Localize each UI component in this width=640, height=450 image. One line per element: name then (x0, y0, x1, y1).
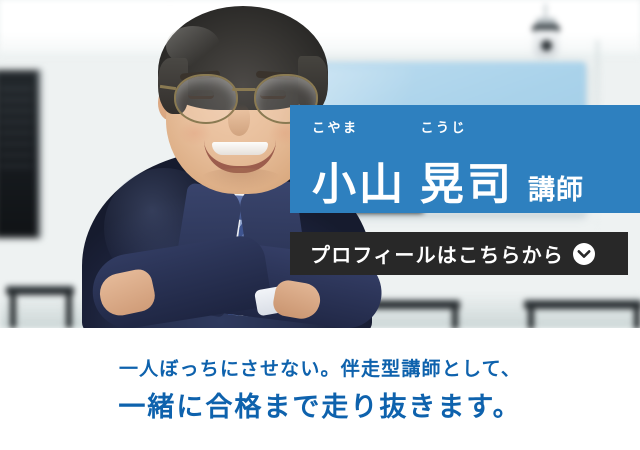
instructor-name-banner: こやま こうじ 小山 晃司 講師 (290, 105, 640, 213)
desk-leg (452, 307, 458, 328)
desk-leg (10, 292, 16, 328)
furigana-family-name: こやま (312, 117, 359, 136)
instructor-family-name: 小山 (312, 163, 406, 207)
desk-leg (528, 307, 534, 328)
nose (228, 104, 250, 136)
instructor-given-name: 晃司 (420, 163, 514, 207)
wall-poster-edge (38, 70, 43, 238)
tagline-line-2: 一緒に合格まで走り抜きます。 (118, 385, 521, 424)
security-camera-icon (528, 4, 562, 64)
desk-leg (634, 307, 640, 328)
wall-poster (0, 70, 40, 238)
profile-cta-label: プロフィールはこちらから (310, 239, 564, 268)
tagline-section: 一人ぼっちにさせない。伴走型講師として、 一緒に合格まで走り抜きます。 (0, 328, 640, 450)
profile-cta-button[interactable]: プロフィールはこちらから (290, 232, 628, 275)
instructor-role-title: 講師 (528, 168, 584, 207)
instructor-hero-photo: こやま こうじ 小山 晃司 講師 プロフィールはこちらから (0, 0, 640, 328)
classroom-desk (524, 300, 640, 309)
teeth (212, 142, 268, 155)
chin-shadow (200, 168, 282, 190)
furigana-given-name: こうじ (421, 117, 468, 136)
tagline-line-1: 一人ぼっちにさせない。伴走型講師として、 (119, 354, 521, 381)
promo-hero-page: こやま こうじ 小山 晃司 講師 プロフィールはこちらから 一人ぼっちにさせない… (0, 0, 640, 450)
chevron-down-circle-icon (572, 242, 596, 266)
name-furigana: こやま こうじ (312, 117, 467, 136)
